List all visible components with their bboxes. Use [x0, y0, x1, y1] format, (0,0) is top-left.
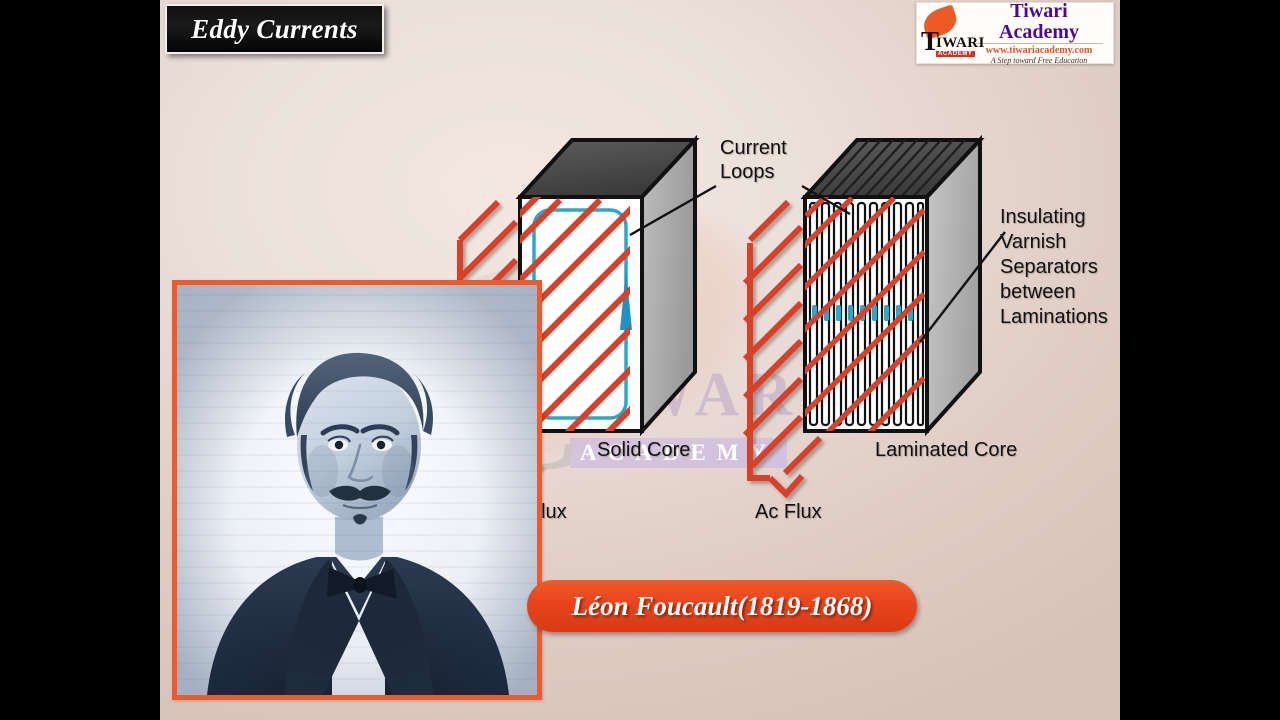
slide-content-area: C TIWARI ACADEMY: [160, 0, 1120, 720]
brand-logo[interactable]: T IWARI ACADEMY Tiwari Academy www.tiwar…: [916, 2, 1114, 64]
label-ac-flux-right: Ac Flux: [755, 500, 822, 524]
logo-mark: T IWARI ACADEMY: [917, 6, 969, 60]
label-solid-core: Solid Core: [597, 438, 690, 462]
logo-name: Tiwari Academy: [969, 1, 1109, 43]
logo-mark-word: IWARI: [936, 35, 985, 52]
solid-core-block: [520, 140, 695, 431]
slide-stage: C TIWARI ACADEMY: [0, 0, 1280, 720]
portrait-engraving: [177, 285, 537, 695]
label-insulating-varnish: Insulating Varnish Separators between La…: [1000, 205, 1108, 330]
page-title: Eddy Currents: [191, 14, 358, 45]
logo-website: www.tiwariacademy.com: [975, 43, 1103, 56]
label-current-loops: Current Loops: [720, 136, 787, 184]
foucault-portrait: [172, 280, 542, 700]
letterbox-right: [1120, 0, 1280, 720]
logo-text-block: Tiwari Academy www.tiwariacademy.com A S…: [969, 1, 1113, 65]
logo-mark-sub: ACADEMY: [936, 51, 975, 57]
label-laminated-core: Laminated Core: [875, 438, 1017, 462]
logo-tagline: A Step toward Free Education: [969, 56, 1109, 65]
slide-title-banner: Eddy Currents: [165, 4, 384, 54]
scientist-name-badge: Léon Foucault(1819-1868): [527, 580, 917, 632]
letterbox-left: [0, 0, 160, 720]
scientist-name-text: Léon Foucault(1819-1868): [572, 591, 873, 622]
